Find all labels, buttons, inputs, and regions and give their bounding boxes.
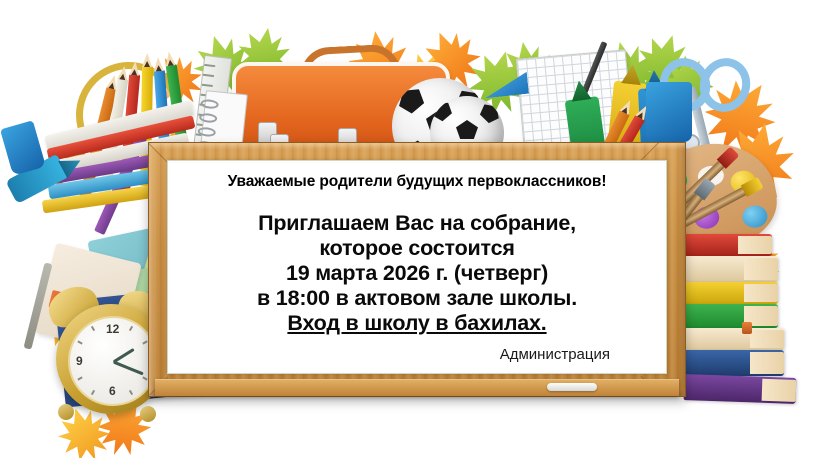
clock-numeral: 12 — [106, 322, 119, 336]
maple-leaf-icon — [392, 44, 460, 115]
clock-tick — [91, 390, 95, 395]
maple-leaf-icon — [22, 277, 105, 360]
board-line: Приглашаем Вас на собрание, — [182, 211, 652, 236]
clock-bell-icon — [43, 280, 103, 332]
maple-leaf-icon — [715, 117, 801, 209]
chalk-icon — [547, 383, 597, 391]
book-icon — [672, 256, 778, 282]
board-signature: Администрация — [182, 346, 652, 365]
pen-icon — [579, 41, 608, 101]
maple-leaf-icon — [87, 389, 161, 458]
scissors-blade-icon — [687, 86, 711, 148]
satchel-handle-icon — [299, 43, 400, 77]
clock-tick — [129, 326, 133, 331]
pen-cup-icon — [0, 120, 46, 176]
pen-cup-icon — [646, 82, 692, 142]
paint-blob — [730, 169, 757, 193]
clock-tick — [91, 326, 95, 331]
folder-label — [48, 290, 87, 316]
frame-ledge — [155, 379, 679, 396]
folder-icon — [34, 243, 142, 354]
bookmark-icon — [742, 322, 752, 334]
folder-edge — [23, 262, 52, 349]
clock-numeral: 6 — [109, 384, 116, 398]
board-headline: Уважаемые родители будущих первоклассник… — [182, 173, 652, 191]
scissors-ring-icon — [653, 52, 717, 119]
clock-hour-hand — [113, 348, 135, 363]
maple-leaf-icon — [414, 21, 490, 100]
board-line: 19 марта 2026 г. (четверг) — [182, 261, 652, 286]
maple-leaf-icon — [689, 65, 790, 168]
clock-foot-icon — [140, 406, 156, 422]
pencil-icon — [119, 74, 140, 195]
clock-tick — [129, 390, 133, 395]
clock-face: 12 9 6 — [68, 316, 158, 406]
announcement-board: Уважаемые родители будущих первоклассник… — [167, 160, 667, 374]
triangle-ruler-icon — [483, 72, 529, 98]
board-line-underlined: Вход в школу в бахилах. — [182, 311, 652, 336]
clock-tick — [77, 376, 82, 380]
board-line: которое состоится — [182, 236, 652, 261]
clock-numeral: 9 — [76, 354, 83, 368]
wooden-frame: Уважаемые родители будущих первоклассник… — [148, 142, 686, 397]
scissors-blade-icon — [667, 86, 691, 148]
pencil-icon — [94, 121, 153, 235]
maple-leaf-icon — [629, 27, 700, 102]
maple-leaf-icon — [690, 182, 775, 271]
pencil-icon — [99, 78, 129, 198]
paint-blob — [693, 205, 720, 229]
maple-leaf-icon — [51, 401, 116, 458]
book-icon — [678, 328, 784, 350]
book-icon — [672, 350, 784, 376]
book-icon — [684, 374, 797, 404]
pencil-icon — [78, 86, 118, 205]
announcement-poster: 12 9 6 — [0, 0, 814, 458]
scissors-ring-icon — [693, 52, 757, 119]
clock-foot-icon — [58, 404, 74, 420]
palette-thumbhole — [697, 165, 725, 188]
maple-leaf-icon — [186, 27, 262, 107]
maple-leaf-icon — [590, 34, 666, 115]
book-icon — [674, 304, 778, 328]
maple-leaf-icon — [660, 53, 716, 114]
maple-leaf-icon — [345, 27, 415, 103]
clock-tick — [142, 376, 147, 380]
maple-leaf-icon — [234, 24, 295, 90]
magnifier-handle-icon — [49, 143, 88, 187]
maple-leaf-icon — [497, 37, 560, 104]
book-icon — [676, 234, 772, 256]
maple-leaf-icon — [144, 46, 212, 115]
marker-icon — [5, 154, 68, 204]
book-icon — [678, 282, 778, 304]
clock-tick — [142, 340, 147, 344]
clock-minute-hand — [113, 361, 144, 376]
board-body: Приглашаем Вас на собрание, которое сост… — [182, 211, 652, 336]
grid-notebook-icon — [516, 49, 634, 156]
board-line: в 18:00 в актовом зале школы. — [182, 286, 652, 311]
maple-leaf-icon — [696, 213, 795, 313]
maple-leaf-icon — [462, 44, 535, 121]
paint-blob — [741, 204, 768, 228]
clock-tick — [77, 340, 82, 344]
